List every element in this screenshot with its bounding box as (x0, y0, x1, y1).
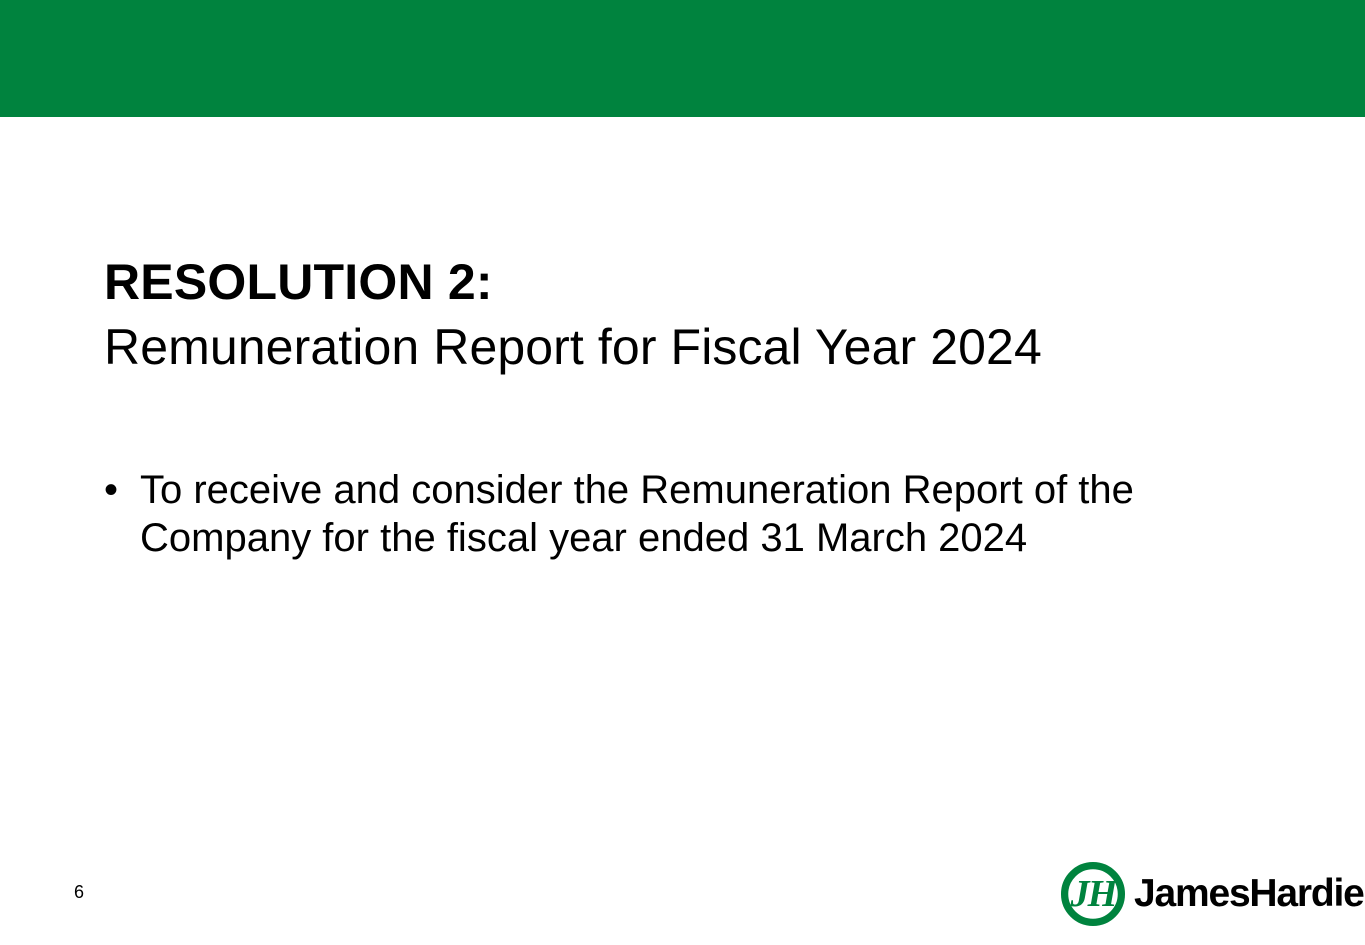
logo-wordmark: JamesHardie ™ (1134, 872, 1364, 916)
james-hardie-jh-monogram-icon: JH (1060, 861, 1126, 927)
page-number: 6 (74, 881, 84, 903)
list-item: • To receive and consider the Remunerati… (104, 466, 1214, 562)
bullet-text: To receive and consider the Remuneration… (140, 466, 1214, 562)
body-content: • To receive and consider the Remunerati… (104, 466, 1214, 562)
svg-text:JH: JH (1070, 873, 1119, 915)
bullet-point-icon: • (104, 466, 140, 514)
slide-title-subtitle: Remuneration Report for Fiscal Year 2024 (104, 314, 1224, 380)
slide-title-main: RESOLUTION 2: (104, 250, 1224, 314)
title-block: RESOLUTION 2: Remuneration Report for Fi… (104, 250, 1224, 380)
header-green-bar (0, 0, 1365, 117)
logo-wordmark-text: JamesHardie (1134, 872, 1364, 915)
slide: RESOLUTION 2: Remuneration Report for Fi… (0, 0, 1365, 945)
james-hardie-logo: JH JamesHardie ™ (1060, 858, 1340, 930)
